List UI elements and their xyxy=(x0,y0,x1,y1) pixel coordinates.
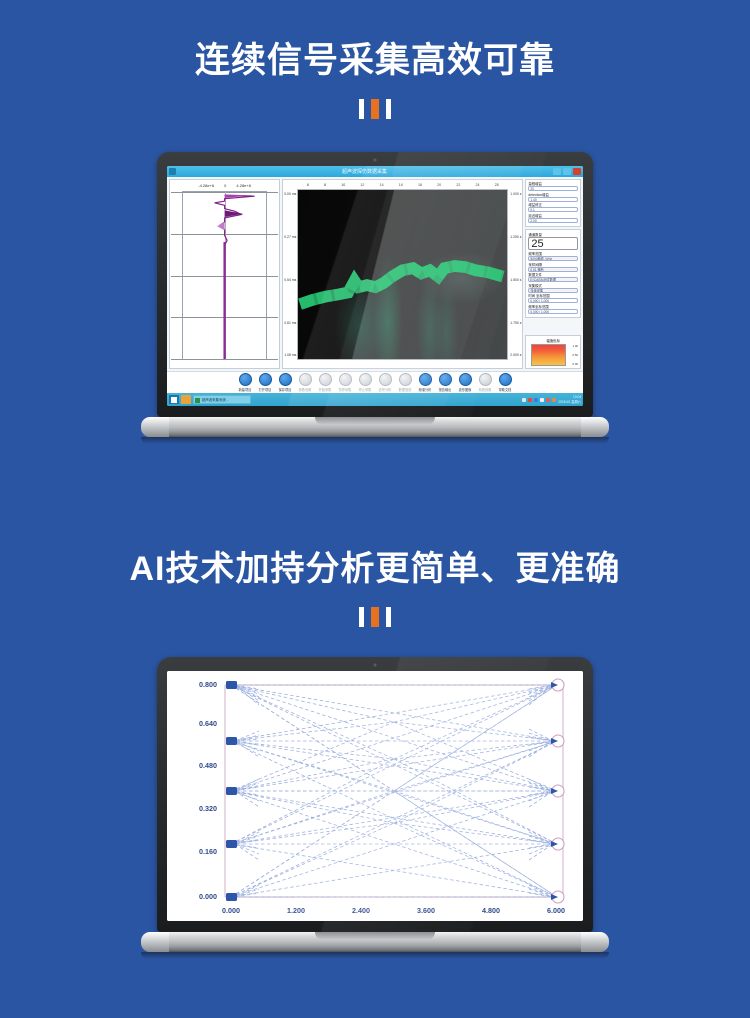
toolbar-button-label: 保存项目 xyxy=(279,387,292,392)
spectrogram-image xyxy=(297,189,508,360)
tick: 16 xyxy=(399,183,403,187)
spec-right-label: 1.000 s xyxy=(510,192,521,196)
field-frequency-range[interactable]: 频率范围 5000赫兹 / kHz xyxy=(528,252,578,261)
trackpad-notch xyxy=(315,932,435,940)
playback-icon xyxy=(399,373,412,386)
y-tick-label: 0.000 xyxy=(199,892,217,901)
stop-acquisition-icon xyxy=(359,373,372,386)
webcam-icon xyxy=(373,663,377,667)
spec-left-label: 1.08 ms xyxy=(284,353,296,357)
section-two-heading: AI技术加持分析更简单、更准确 xyxy=(0,548,750,590)
laptop-one-screen: 超声波探伤数据采集 -4.28e+6 0 4.28e+6 xyxy=(167,166,583,406)
toolbar-button-analysis[interactable]: 信号分析 xyxy=(377,373,394,392)
x-tick-label: 2.400 xyxy=(352,906,370,915)
tray-shield-icon[interactable] xyxy=(546,398,550,402)
legend-tick: 0.00 xyxy=(573,362,578,366)
control-group-gain: 量程增益 20 detection增益 1.40 增益修正 0.1 xyxy=(525,179,581,227)
field-delay-gain[interactable]: 延迟增益 2.00 xyxy=(528,214,578,223)
section-one-heading: 连续信号采集高效可靠 xyxy=(0,40,750,82)
laptop-one-base xyxy=(157,417,593,437)
tick: 24 xyxy=(476,183,480,187)
toolbar-button-label: 参数设置 xyxy=(299,387,312,392)
y-tick-label: 0.160 xyxy=(199,847,217,856)
channel-count-input[interactable]: 25 xyxy=(528,237,578,250)
field-acquisition-mode[interactable]: 采集模式 连续采集 xyxy=(528,284,578,293)
tick: 18 xyxy=(418,183,422,187)
minimize-button[interactable] xyxy=(553,168,561,175)
trellis-edges xyxy=(231,685,557,897)
divider-bar-right xyxy=(386,99,391,119)
section-two: AI技术加持分析更简单、更准确 xyxy=(0,548,750,627)
control-panel: 量程增益 20 detection增益 1.40 增益修正 0.1 xyxy=(525,179,581,369)
start-acquisition-icon xyxy=(319,373,332,386)
tick: 14 xyxy=(380,183,384,187)
node-left xyxy=(226,840,237,848)
toolbar-button-label: 打开项目 xyxy=(259,387,272,392)
windows-taskbar[interactable]: 超声波采集系统... 13:04 2023/4/1 星期六 xyxy=(167,393,583,406)
field-label: 延迟增益 xyxy=(528,214,578,218)
field-input[interactable]: 1.40 xyxy=(528,197,578,202)
spec-left-label: 0.54 ms xyxy=(284,278,296,282)
node-left xyxy=(226,787,237,795)
tick: 20 xyxy=(437,183,441,187)
divider-bar-left xyxy=(359,607,364,627)
field-input[interactable]: 2.00 xyxy=(528,218,578,223)
trackpad-notch xyxy=(315,417,435,425)
spec-left-label: 0.81 ms xyxy=(284,321,296,325)
tick: 22 xyxy=(456,183,460,187)
signal-analysis-icon xyxy=(379,373,392,386)
tick: 6 xyxy=(307,183,309,187)
spec-right-label: 1.750 s xyxy=(510,321,521,325)
open-project-icon xyxy=(259,373,272,386)
waveform-scale-left: -4.28e+6 xyxy=(198,183,214,188)
close-button[interactable] xyxy=(573,168,581,175)
node-left xyxy=(226,737,237,745)
field-input[interactable]: 连续采集 xyxy=(528,288,578,293)
toolbar-button-help[interactable]: 帮助文档 xyxy=(497,373,514,392)
y-tick-label: 0.320 xyxy=(199,804,217,813)
laptop-two-shadow xyxy=(141,952,609,959)
spectrogram-top-ticks: 6 8 10 12 14 16 18 20 22 24 25 xyxy=(283,180,522,189)
section-one: 连续信号采集高效可靠 xyxy=(0,40,750,119)
app-body: -4.28e+6 0 4.28e+6 xyxy=(167,177,583,371)
maximize-button[interactable] xyxy=(563,168,571,175)
clock-date: 2023/4/1 星期六 xyxy=(558,400,581,405)
field-input[interactable]: E:\DATA\测试数据 xyxy=(528,277,578,282)
y-tick-label: 0.800 xyxy=(199,680,217,689)
y-tick-label: 0.480 xyxy=(199,761,217,770)
window-controls[interactable] xyxy=(553,168,581,175)
webcam-icon xyxy=(373,158,377,162)
toolbar-button-stop[interactable]: 停止采集 xyxy=(357,373,374,392)
toolbar-button-pause[interactable]: 暂停采集 xyxy=(337,373,354,392)
new-project-icon xyxy=(239,373,252,386)
toolbar-button-report[interactable]: 报告输出 xyxy=(437,373,454,392)
spec-left-label: 0.00 ms xyxy=(284,192,296,196)
spec-right-label: 1.250 s xyxy=(510,235,521,239)
file-explorer-icon[interactable] xyxy=(181,395,191,404)
field-input[interactable]: 20 xyxy=(528,186,578,191)
chart-svg: 0.800 0.640 0.480 0.320 0.160 0.000 0.00… xyxy=(167,671,583,921)
taskbar-clock[interactable]: 13:04 2023/4/1 星期六 xyxy=(558,395,581,405)
tick: 8 xyxy=(324,183,326,187)
toolbar-button-new[interactable]: 新建项目 xyxy=(237,373,254,392)
field-gain-range[interactable]: 量程增益 20 xyxy=(528,182,578,191)
field-label: 频率坐标范围 xyxy=(528,305,578,309)
tray-keyboard-icon[interactable] xyxy=(522,398,526,402)
divider-bar-right xyxy=(386,607,391,627)
toolbar-button-start[interactable]: 开始采集 xyxy=(317,373,334,392)
field-label: detection增益 xyxy=(528,193,578,197)
field-input[interactable]: 5000赫兹 / kHz xyxy=(528,256,578,261)
x-tick-label: 6.000 xyxy=(547,906,565,915)
window-titlebar: 超声波探伤数据采集 xyxy=(167,166,583,177)
x-tick-label: 4.800 xyxy=(482,906,500,915)
toolbar-button-settings[interactable]: 参数设置 xyxy=(297,373,314,392)
spec-left-label: 0.27 ms xyxy=(284,235,296,239)
taskbar-app-item[interactable]: 超声波采集系统... xyxy=(193,395,251,404)
spec-right-label: 1.500 s xyxy=(510,278,521,282)
waveform-panel: -4.28e+6 0 4.28e+6 xyxy=(169,179,280,369)
toolbar-button-waveform-image[interactable]: 波形图像 xyxy=(457,373,474,392)
toolbar-button-system[interactable]: 系统设置 xyxy=(477,373,494,392)
tray-network-icon[interactable] xyxy=(534,398,538,402)
toolbar-button-label: 信号分析 xyxy=(379,387,392,392)
node-left xyxy=(226,681,237,689)
legend-color-bar xyxy=(531,344,565,366)
left-nodes xyxy=(226,681,237,901)
field-label: 采集模式 xyxy=(528,284,578,288)
laptop-one: 超声波探伤数据采集 -4.28e+6 0 4.28e+6 xyxy=(157,152,593,437)
waveform-scale-center: 0 xyxy=(224,183,226,188)
spectrogram-plot[interactable]: 0.00 ms 0.27 ms 0.54 ms 0.81 ms 1.08 ms … xyxy=(297,189,508,360)
amplitude-legend: 幅值色标 1.00 0.50 0.00 xyxy=(525,335,581,369)
toolbar-button-label: 波形图像 xyxy=(459,387,472,392)
legend-tick: 0.50 xyxy=(573,353,578,357)
toolbar-button-label: 新建项目 xyxy=(239,387,252,392)
tick: 25 xyxy=(495,183,499,187)
window-title: 超声波探伤数据采集 xyxy=(176,168,553,175)
waveform-header: -4.28e+6 0 4.28e+6 xyxy=(170,180,279,190)
toolbar-button-label: 开始采集 xyxy=(319,387,332,392)
toolbar-button-label: 频谱分析 xyxy=(419,387,432,392)
toolbar-button-playback[interactable]: 数据回放 xyxy=(397,373,414,392)
acquisition-app-window: 超声波探伤数据采集 -4.28e+6 0 4.28e+6 xyxy=(167,166,583,406)
report-icon xyxy=(439,373,452,386)
waveform-trace xyxy=(183,192,266,359)
toolbar-button-spectrum[interactable]: 频谱分析 xyxy=(417,373,434,392)
section-one-divider xyxy=(0,99,750,119)
tick: 10 xyxy=(341,183,345,187)
node-left xyxy=(226,893,237,901)
field-data-file[interactable]: 数据文件 E:\DATA\测试数据 xyxy=(528,273,578,282)
laptop-two-screen: 0.800 0.640 0.480 0.320 0.160 0.000 0.00… xyxy=(167,671,583,921)
app-icon xyxy=(169,168,176,175)
field-input[interactable]: 0.1 xyxy=(528,207,578,212)
x-tick-label: 1.200 xyxy=(287,906,305,915)
field-label: 采样间隔 xyxy=(528,263,578,267)
help-icon xyxy=(499,373,512,386)
laptop-two-lid: 0.800 0.640 0.480 0.320 0.160 0.000 0.00… xyxy=(157,657,593,932)
waveform-scale-right: 4.28e+6 xyxy=(236,183,251,188)
spectrogram-panel: 6 8 10 12 14 16 18 20 22 24 25 xyxy=(282,179,523,369)
field-sample-interval[interactable]: 采样间隔 0.01 微秒 xyxy=(528,263,578,272)
waveform-plot[interactable] xyxy=(182,191,267,360)
y-tick-label: 0.640 xyxy=(199,719,217,728)
laptop-two: 0.800 0.640 0.480 0.320 0.160 0.000 0.00… xyxy=(157,657,593,952)
pause-acquisition-icon xyxy=(339,373,352,386)
spec-right-label: 2.000 s xyxy=(510,353,521,357)
x-tick-label: 3.600 xyxy=(417,906,435,915)
control-group-channels: 通道数量 25 频率范围 5000赫兹 / kHz 采样间隔 0.01 微秒 xyxy=(525,229,581,318)
tray-battery-icon[interactable] xyxy=(552,398,556,402)
legend-tick: 1.00 xyxy=(573,344,578,348)
start-button-icon[interactable] xyxy=(169,395,179,404)
tray-alert-icon[interactable] xyxy=(528,398,532,402)
field-input[interactable]: 0.01 微秒 xyxy=(528,267,578,272)
section-two-divider xyxy=(0,607,750,627)
toolbar-button-label: 报告输出 xyxy=(439,387,452,392)
field-time-axis-range[interactable]: 时间 坐标范围 0.000 / 1.000 xyxy=(528,294,578,303)
tick: 12 xyxy=(360,183,364,187)
toolbar-button-label: 系统设置 xyxy=(479,387,492,392)
spectrogram-ridge-trace xyxy=(298,190,507,359)
field-freq-axis-range[interactable]: 频率坐标范围 0.000 / 1.000 xyxy=(528,305,578,314)
field-detection-gain[interactable]: detection增益 1.40 xyxy=(528,193,578,202)
toolbar-button-label: 停止采集 xyxy=(359,387,372,392)
waveform-image-icon xyxy=(459,373,472,386)
laptop-one-shadow xyxy=(141,437,609,444)
toolbar-button-label: 帮助文档 xyxy=(499,387,512,392)
laptop-two-base xyxy=(157,932,593,952)
save-project-icon xyxy=(279,373,292,386)
eye-diagram-chart[interactable]: 0.800 0.640 0.480 0.320 0.160 0.000 0.00… xyxy=(167,671,583,921)
toolbar-button-save[interactable]: 保存项目 xyxy=(277,373,294,392)
system-tray[interactable] xyxy=(522,398,556,402)
right-nodes xyxy=(551,679,564,903)
field-input[interactable]: 0.000 / 1.000 xyxy=(528,298,578,303)
divider-bar-center xyxy=(371,99,379,119)
toolbar-button-label: 数据回放 xyxy=(399,387,412,392)
gear-icon xyxy=(479,373,492,386)
divider-bar-center xyxy=(371,607,379,627)
x-tick-label: 0.000 xyxy=(222,906,240,915)
toolbar-button-label: 暂停采集 xyxy=(339,387,352,392)
field-input[interactable]: 0.000 / 1.000 xyxy=(528,309,578,314)
spectrum-icon xyxy=(419,373,432,386)
app-toolbar[interactable]: 新建项目 打开项目 保存项目 参数设置 xyxy=(167,371,583,393)
tray-volume-icon[interactable] xyxy=(540,398,544,402)
toolbar-button-open[interactable]: 打开项目 xyxy=(257,373,274,392)
field-gain-correction[interactable]: 增益修正 0.1 xyxy=(528,203,578,212)
divider-bar-left xyxy=(359,99,364,119)
settings-icon xyxy=(299,373,312,386)
laptop-one-lid: 超声波探伤数据采集 -4.28e+6 0 4.28e+6 xyxy=(157,152,593,417)
